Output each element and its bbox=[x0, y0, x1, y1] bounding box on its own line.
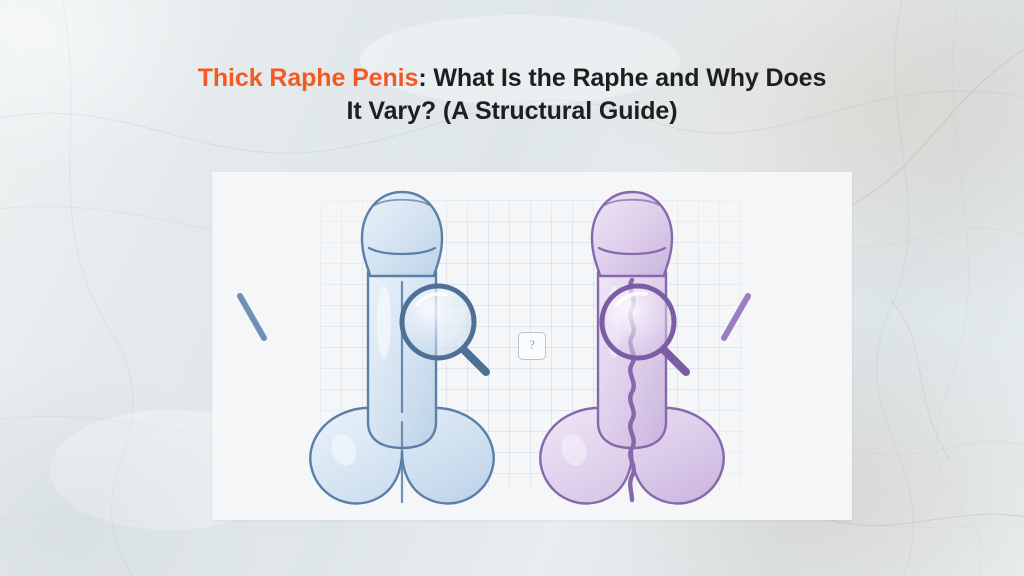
center-question-badge: ? bbox=[518, 332, 546, 360]
illustration-card: ? bbox=[212, 172, 852, 520]
right-pointer-line bbox=[724, 296, 748, 338]
right-anatomy-figure bbox=[540, 192, 748, 503]
title-accent-text: Thick Raphe Penis bbox=[198, 64, 419, 92]
page-root: Thick Raphe Penis: What Is the Raphe and… bbox=[0, 0, 1024, 576]
title-rest-text: : What Is the Raphe and Why Does It Vary… bbox=[347, 64, 827, 125]
left-anatomy-figure bbox=[240, 192, 494, 503]
left-pointer-line bbox=[240, 296, 264, 338]
page-title: Thick Raphe Penis: What Is the Raphe and… bbox=[192, 62, 832, 129]
